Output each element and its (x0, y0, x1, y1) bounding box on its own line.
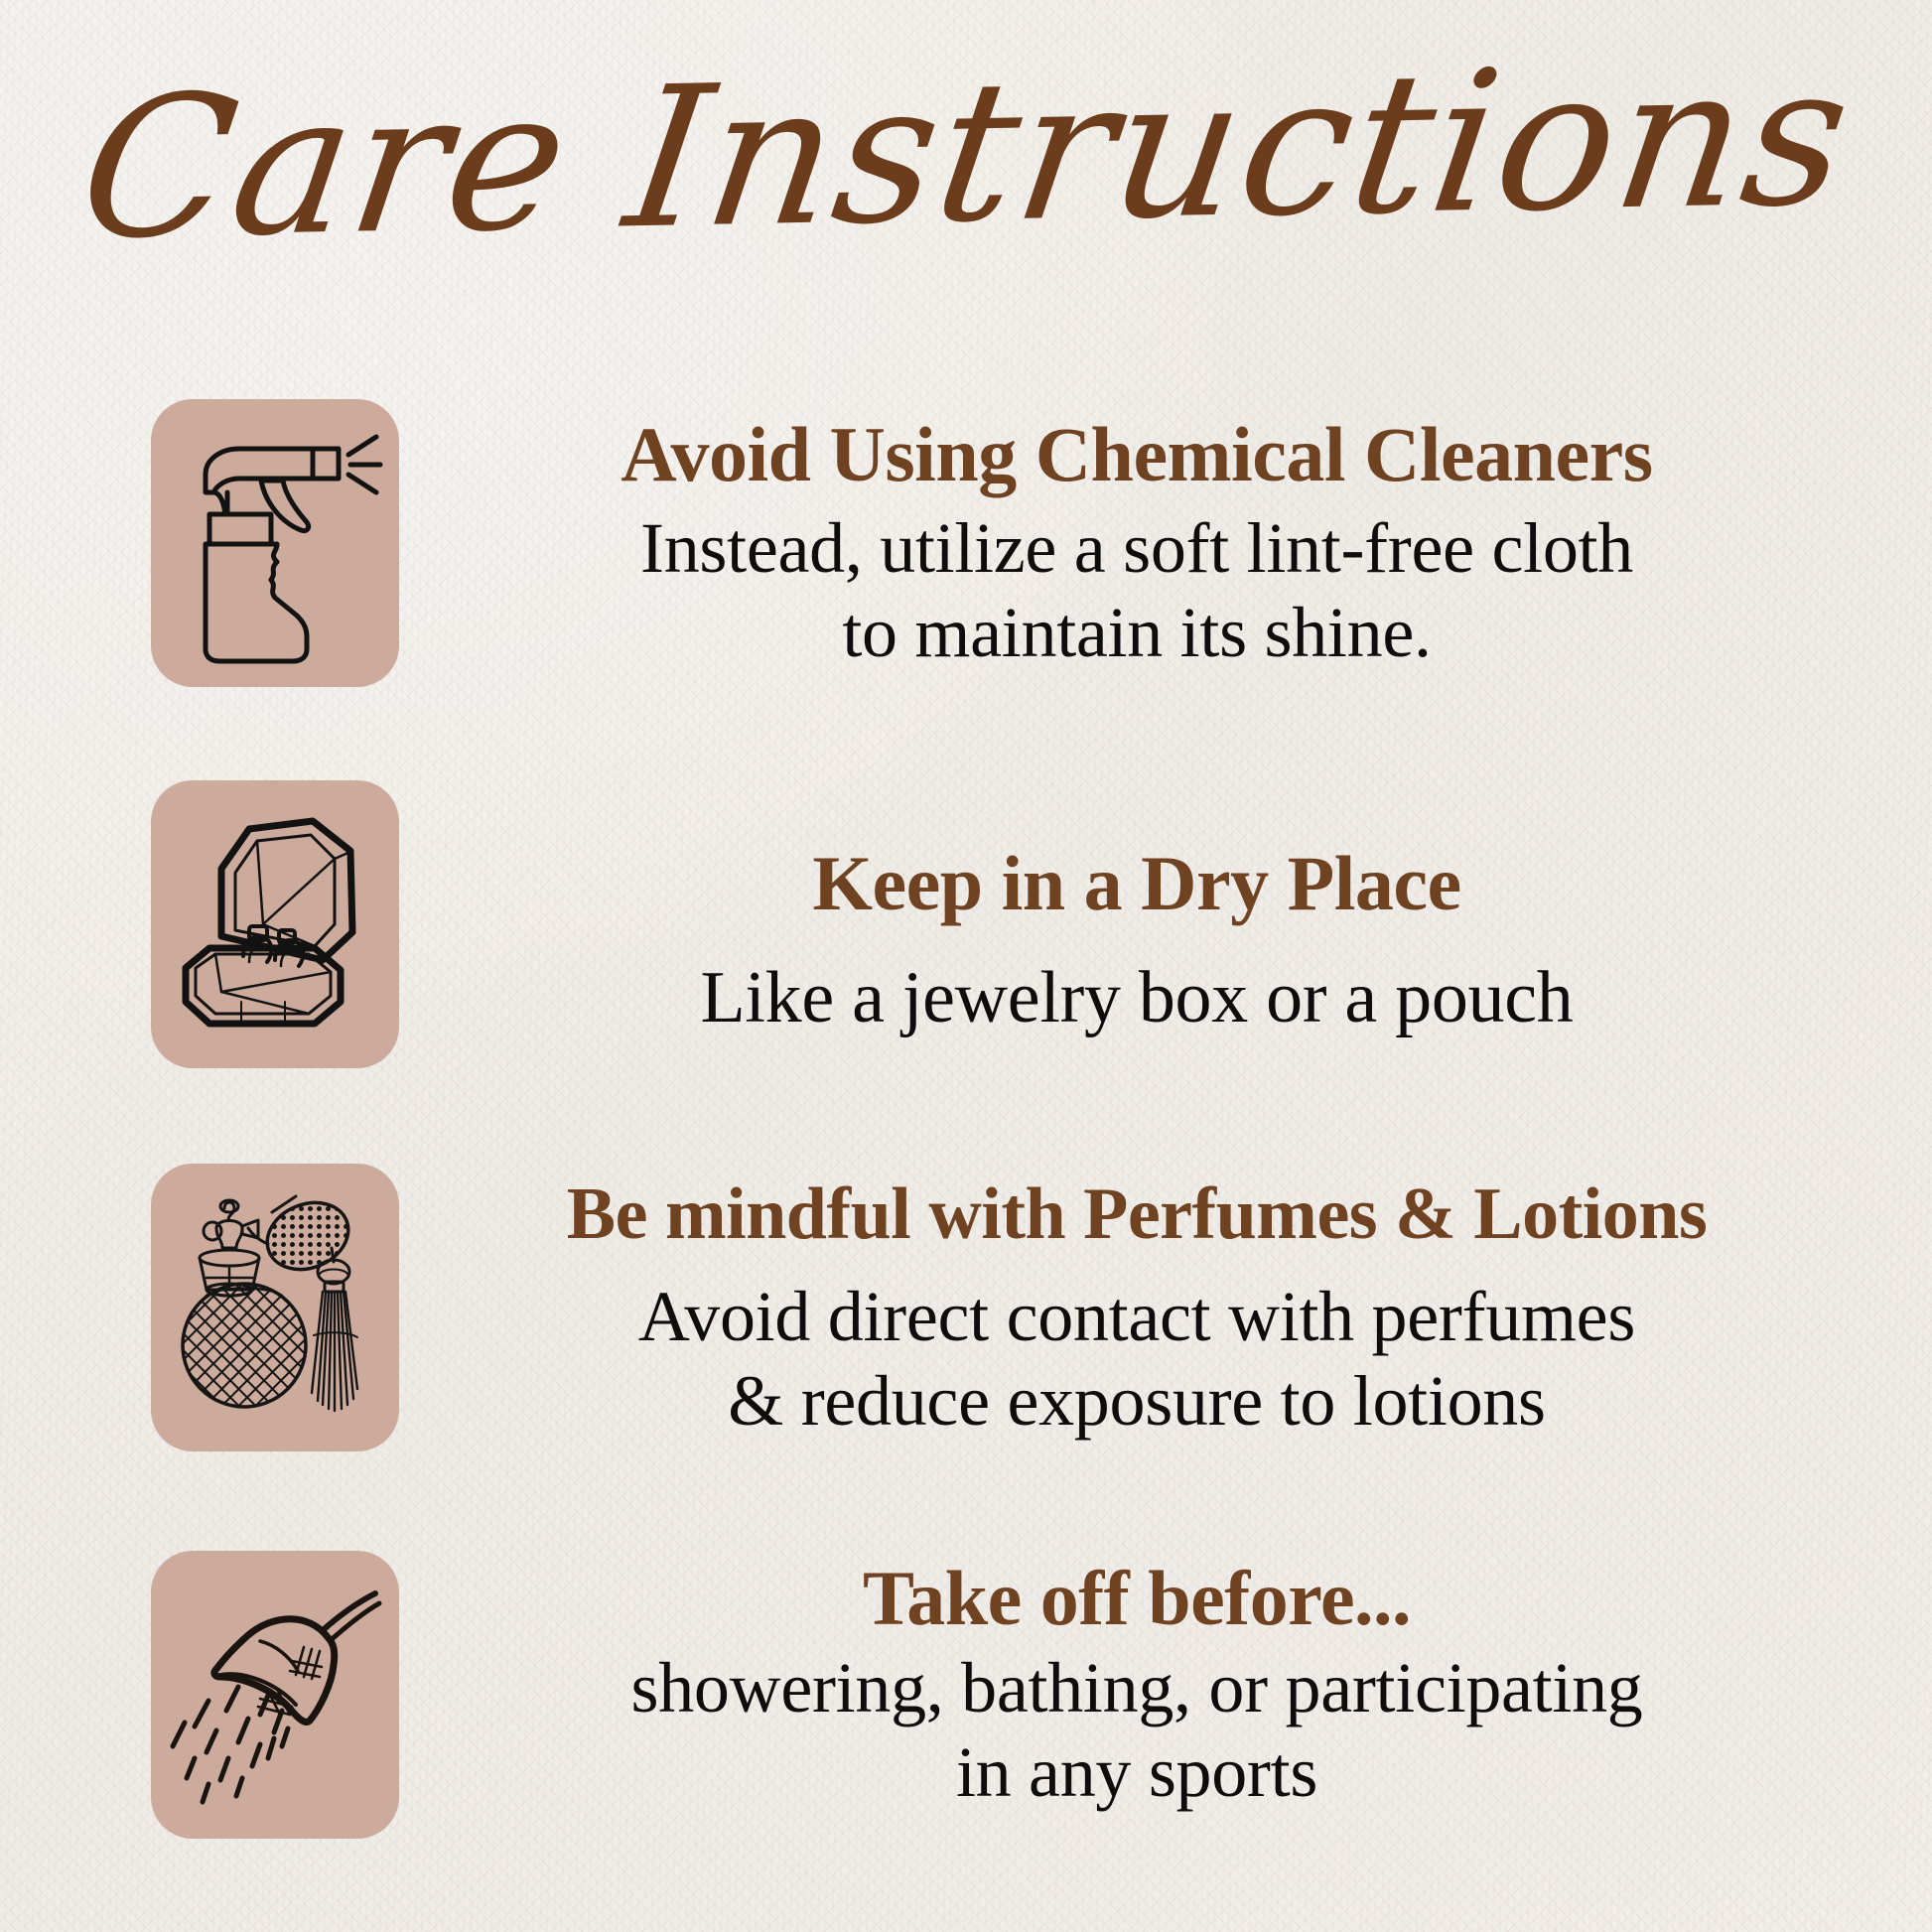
icon-tile-perfume-atomizer (151, 1164, 399, 1451)
icon-tile-jewelry-box (151, 780, 399, 1068)
page-title-text: Care Instructions (69, 35, 1862, 273)
care-item-body: Instead, utilize a soft lint-free cloth … (435, 506, 1839, 675)
icon-tile-spray-bottle (151, 399, 399, 687)
care-item-body: Avoid direct contact with perfumes & red… (435, 1275, 1839, 1444)
care-item-body-line: showering, bathing, or participating (435, 1646, 1839, 1730)
icon-tile-shower-head (151, 1551, 399, 1839)
spray-bottle-icon (166, 419, 384, 667)
care-item-row: Take off before... showering, bathing, o… (151, 1551, 1839, 1839)
care-item-row: Be mindful with Perfumes & Lotions Avoid… (151, 1164, 1839, 1451)
care-item-text: Take off before... showering, bathing, o… (399, 1551, 1839, 1815)
care-item-body-line: Like a jewelry box or a pouch (435, 955, 1839, 1041)
care-item-body: showering, bathing, or participating in … (435, 1646, 1839, 1815)
care-item-title: Avoid Using Chemical Cleaners (435, 413, 1839, 496)
care-item-text: Keep in a Dry Place Like a jewelry box o… (399, 780, 1839, 1042)
care-item-text: Be mindful with Perfumes & Lotions Avoid… (399, 1164, 1839, 1444)
page-title: Care Instructions (0, 52, 1932, 256)
care-item-title: Take off before... (435, 1557, 1839, 1640)
care-item-body-line: to maintain its shine. (435, 591, 1839, 675)
care-item-body-line: Instead, utilize a soft lint-free cloth (435, 506, 1839, 591)
shower-head-icon (165, 1580, 385, 1810)
care-instructions-card: Care Instructions (0, 0, 1932, 1932)
perfume-atomizer-icon (163, 1186, 387, 1429)
care-item-body-line: Avoid direct contact with perfumes (435, 1275, 1839, 1359)
care-item-row: Keep in a Dry Place Like a jewelry box o… (151, 780, 1839, 1068)
care-item-text: Avoid Using Chemical Cleaners Instead, u… (399, 399, 1839, 675)
care-item-row: Avoid Using Chemical Cleaners Instead, u… (151, 399, 1839, 687)
care-item-title: Be mindful with Perfumes & Lotions (435, 1175, 1839, 1255)
care-item-body: Like a jewelry box or a pouch (435, 955, 1839, 1041)
care-item-title: Keep in a Dry Place (435, 842, 1839, 925)
care-item-body-line: in any sports (435, 1730, 1839, 1815)
jewelry-box-icon (164, 807, 386, 1041)
care-item-body-line: & reduce exposure to lotions (435, 1359, 1839, 1444)
